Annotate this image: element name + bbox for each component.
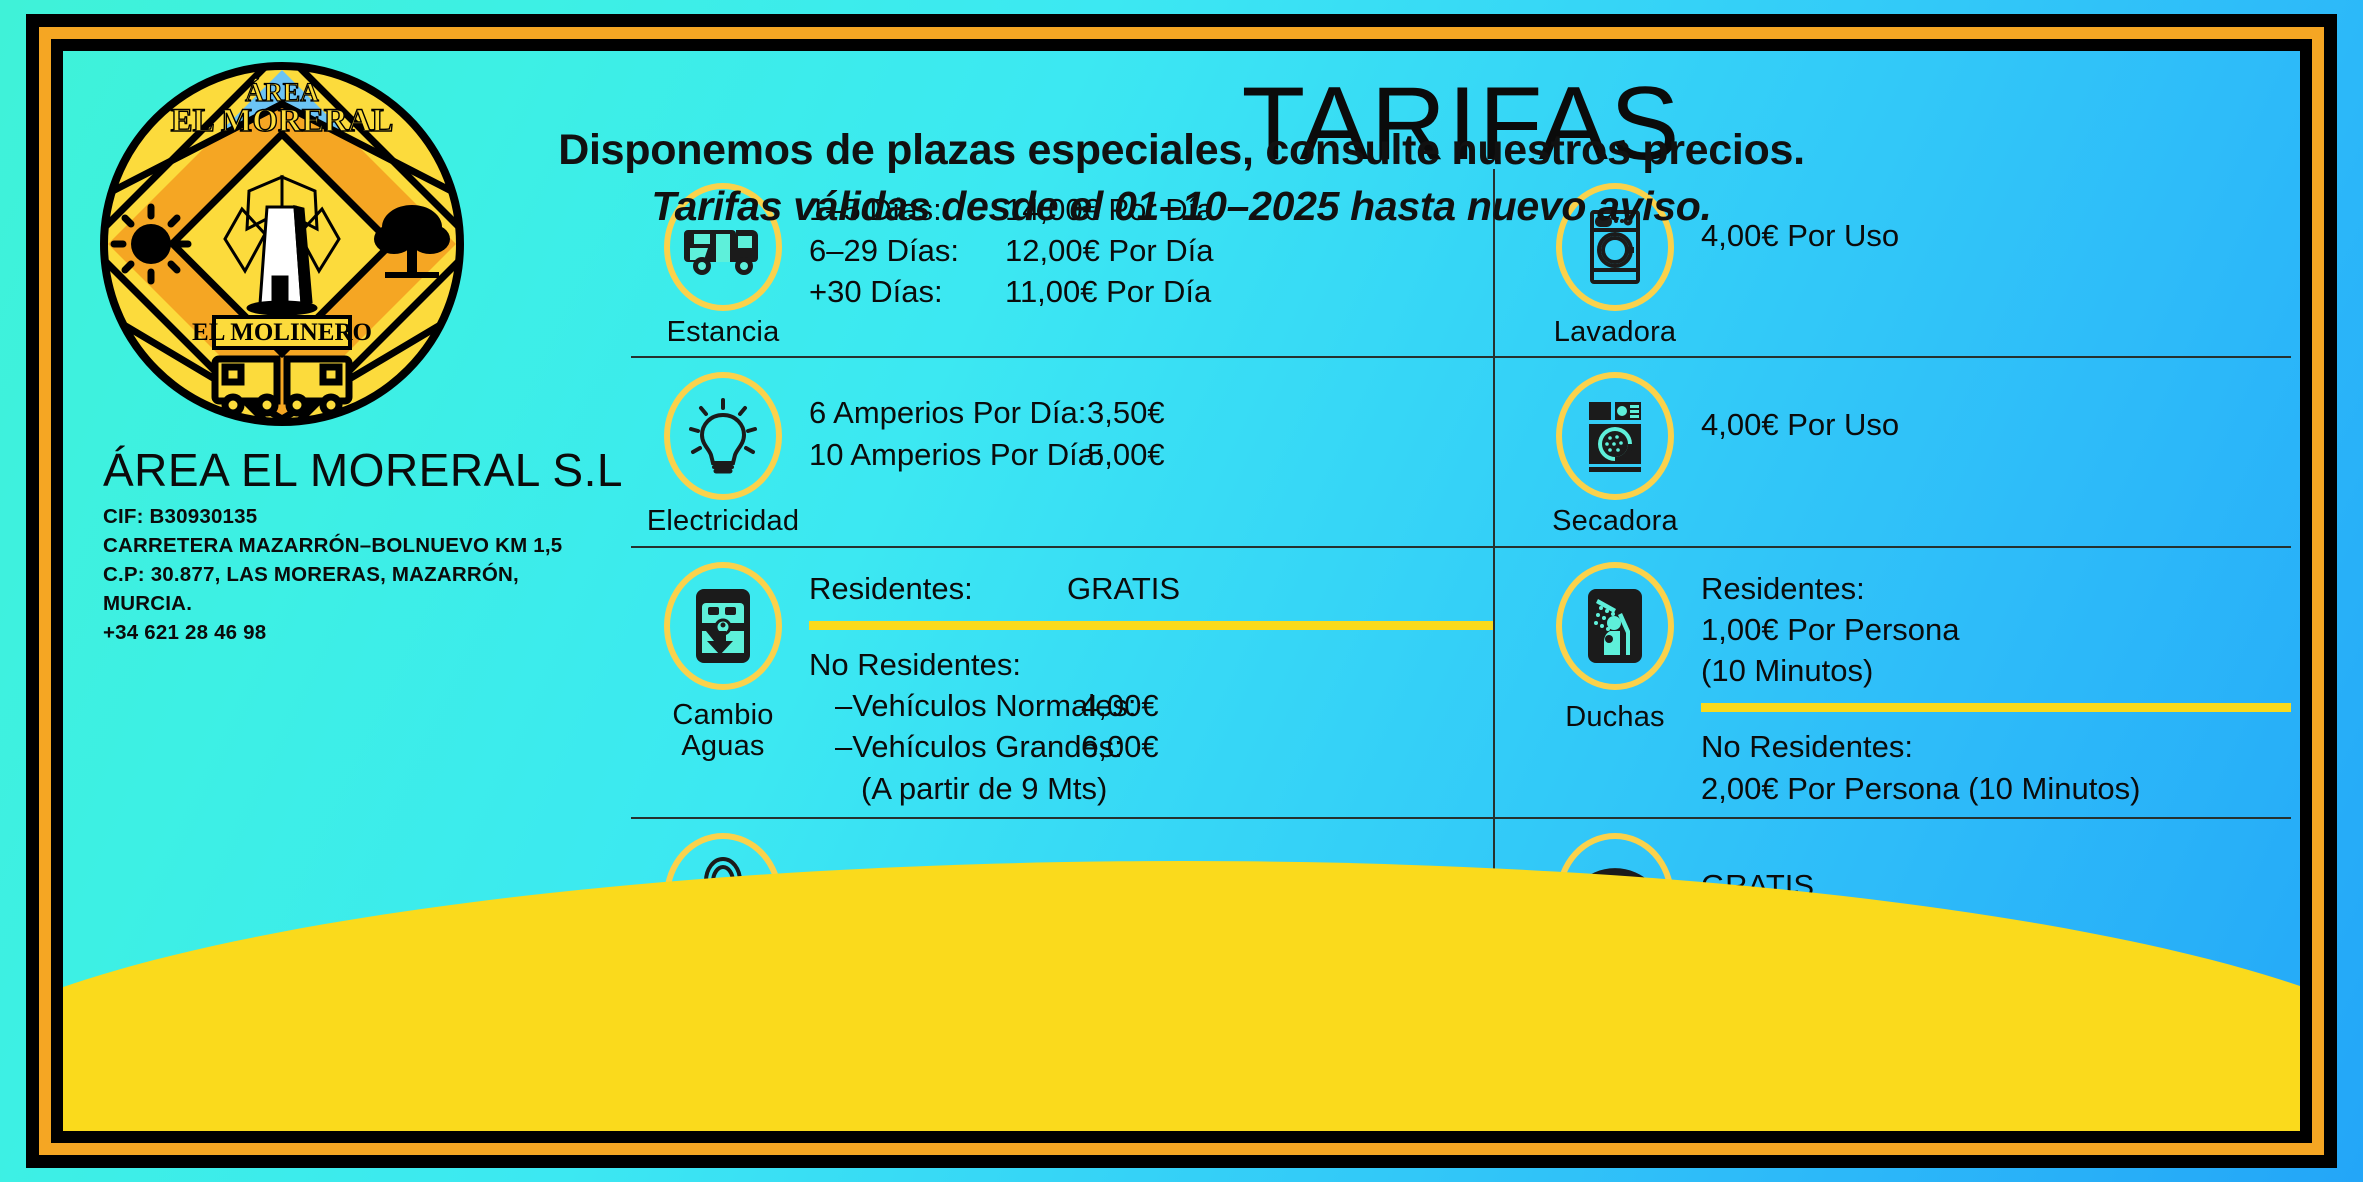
banner-line-1: Disponemos de plazas especiales, consult…	[63, 125, 2300, 176]
price-label: +30 Días:	[809, 271, 1005, 312]
lavadora-label: Lavadora	[1529, 317, 1701, 348]
water-change-icon	[664, 562, 782, 690]
price-label: –Vehículos Normales:	[835, 685, 1081, 726]
price-value: GRATIS	[1067, 568, 1180, 609]
company-cif: CIF: B30930135	[103, 502, 613, 531]
vehicle-note: (A partir de 9 Mts)	[809, 768, 1493, 809]
non-residents-label: No Residentes:	[809, 644, 1493, 685]
price-value: 11,00€ Por Día	[1005, 271, 1211, 312]
company-street: CARRETERA MAZARRÓN–BOLNUEVO KM 1,5	[103, 531, 613, 560]
price-label: –Vehículos Grandes:	[835, 726, 1081, 767]
price-line: +30 Días: 11,00€ Por Día	[809, 271, 1493, 312]
tariff-poster: TARIFAS	[0, 0, 2363, 1182]
cell-cambio-aguas: Cambio Aguas Residentes: GRATIS No Resid…	[631, 548, 1493, 817]
price-label: Residentes:	[809, 568, 1067, 609]
electricidad-label: Electricidad	[637, 506, 809, 537]
poster-content: TARIFAS	[63, 51, 2300, 1131]
electricidad-prices: 6 Amperios Por Día: 3,50€ 10 Amperios Po…	[809, 372, 1493, 474]
shower-icon	[1556, 562, 1674, 690]
electricidad-icon-col: Electricidad	[637, 372, 809, 537]
company-postal: C.P: 30.877, LAS MORERAS, MAZARRÓN, MURC…	[103, 560, 613, 618]
duchas-icon-col: Duchas	[1529, 562, 1701, 733]
dryer-icon	[1556, 372, 1674, 500]
price-line: 6 Amperios Por Día: 3,50€	[809, 378, 1493, 433]
residents-price: 1,00€ Por Persona	[1701, 609, 2291, 650]
non-residents-price: 2,00€ Por Persona (10 Minutos)	[1701, 768, 2291, 809]
company-name: ÁREA EL MORERAL S.L	[103, 443, 613, 497]
section-divider	[809, 621, 1493, 630]
banner-line-2: Tarifas válidas desde el 01–10–2025 hast…	[63, 176, 2300, 238]
lightbulb-icon	[664, 372, 782, 500]
cell-secadora: Secadora 4,00€ Por Uso	[1493, 358, 2291, 545]
price-value: 5,00€	[1087, 434, 1165, 475]
estancia-label: Estancia	[637, 317, 809, 348]
price-line: 10 Amperios Por Día: 5,00€	[809, 434, 1493, 475]
cell-electricidad: Electricidad 6 Amperios Por Día: 3,50€ 1…	[631, 358, 1493, 545]
svg-text:EL MOLINERO: EL MOLINERO	[192, 319, 372, 346]
cell-duchas: Duchas Residentes: 1,00€ Por Persona (10…	[1493, 548, 2291, 817]
price-value: 4,00€ Por Uso	[1701, 378, 2291, 445]
company-phone: +34 621 28 46 98	[103, 618, 613, 647]
secadora-icon-col: Secadora	[1529, 372, 1701, 537]
duchas-prices: Residentes: 1,00€ Por Persona (10 Minuto…	[1701, 562, 2291, 809]
price-label: 6 Amperios Por Día:	[809, 392, 1087, 433]
company-details: CIF: B30930135 CARRETERA MAZARRÓN–BOLNUE…	[103, 502, 613, 648]
table-row: Cambio Aguas Residentes: GRATIS No Resid…	[631, 548, 2291, 817]
price-value: 3,50€	[1087, 392, 1165, 433]
cambio-aguas-prices: Residentes: GRATIS No Residentes: –Vehíc…	[809, 562, 1493, 809]
residents-note: (10 Minutos)	[1701, 650, 2291, 691]
bottom-banner-text: Disponemos de plazas especiales, consult…	[63, 125, 2300, 237]
price-label: 10 Amperios Por Día:	[809, 434, 1087, 475]
non-residents-label: No Residentes:	[1701, 726, 2291, 767]
price-line: –Vehículos Grandes: 6,00€	[809, 726, 1493, 767]
price-value: 6,00€	[1081, 726, 1159, 767]
table-row: Electricidad 6 Amperios Por Día: 3,50€ 1…	[631, 358, 2291, 545]
cambio-aguas-label-line1: Cambio	[637, 700, 809, 731]
duchas-label: Duchas	[1529, 702, 1701, 733]
company-logo: EL MOLINERO	[97, 59, 467, 429]
price-value: 4,00€	[1081, 685, 1159, 726]
cambio-aguas-icon-col: Cambio Aguas	[637, 562, 809, 763]
cambio-aguas-label-line2: Aguas	[637, 731, 809, 762]
price-line: –Vehículos Normales: 4,00€	[809, 685, 1493, 726]
section-divider	[1701, 703, 2291, 712]
secadora-label: Secadora	[1529, 506, 1701, 537]
residents-label: Residentes:	[1701, 568, 2291, 609]
price-line: Residentes: GRATIS	[809, 568, 1493, 609]
secadora-prices: 4,00€ Por Uso	[1701, 372, 2291, 445]
cambio-aguas-label: Cambio Aguas	[637, 700, 809, 763]
